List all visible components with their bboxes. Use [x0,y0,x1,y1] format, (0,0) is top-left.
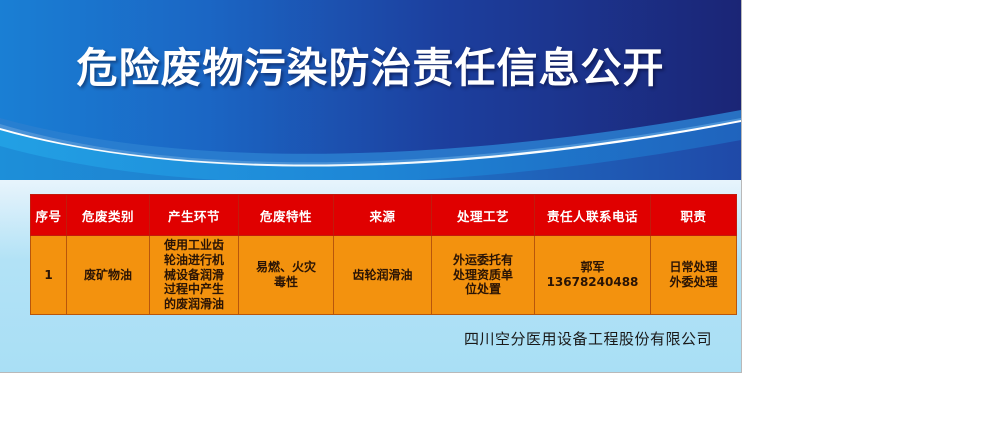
cell-process-line: 位处置 [435,282,531,297]
cell-hazard: 易燃、火灾 毒性 [239,236,334,315]
page-title: 危险废物污染防治责任信息公开 [0,48,741,89]
table-header-row: 序号 危废类别 产生环节 危废特性 来源 处理工艺 责任人联系电话 职责 [31,195,737,236]
cell-stage-line: 使用工业齿 [153,238,235,253]
information-poster: 危险废物污染防治责任信息公开 序号 危废类别 产生环节 危废特性 来源 处理工艺… [0,0,742,373]
cell-category: 废矿物油 [67,236,150,315]
cell-stage-line: 械设备润滑 [153,268,235,283]
cell-stage-line: 轮油进行机 [153,253,235,268]
column-header-source: 来源 [334,195,432,236]
cell-hazard-line: 易燃、火灾 [242,260,330,275]
cell-process: 外运委托有 处理资质单 位处置 [432,236,535,315]
cell-contact-name: 郭军 [538,260,647,275]
cell-duty-line: 外委处理 [654,275,733,290]
cell-contact-phone: 13678240488 [538,275,647,290]
cell-process-line: 外运委托有 [435,253,531,268]
table-row: 1 废矿物油 使用工业齿 轮油进行机 械设备润滑 过程中产生 的废润滑油 易燃、… [31,236,737,315]
column-header-process: 处理工艺 [432,195,535,236]
hazardous-waste-table: 序号 危废类别 产生环节 危废特性 来源 处理工艺 责任人联系电话 职责 1 废… [30,194,737,315]
cell-index: 1 [31,236,67,315]
hazardous-waste-table-wrapper: 序号 危废类别 产生环节 危废特性 来源 处理工艺 责任人联系电话 职责 1 废… [30,194,712,315]
header-banner: 危险废物污染防治责任信息公开 [0,0,741,180]
column-header-stage: 产生环节 [150,195,239,236]
column-header-contact: 责任人联系电话 [535,195,651,236]
cell-contact: 郭军 13678240488 [535,236,651,315]
column-header-hazard: 危废特性 [239,195,334,236]
cell-stage-line: 的废润滑油 [153,297,235,312]
company-name: 四川空分医用设备工程股份有限公司 [0,328,712,349]
cell-stage: 使用工业齿 轮油进行机 械设备润滑 过程中产生 的废润滑油 [150,236,239,315]
cell-stage-line: 过程中产生 [153,282,235,297]
cell-duty-line: 日常处理 [654,260,733,275]
cell-duty: 日常处理 外委处理 [651,236,737,315]
column-header-index: 序号 [31,195,67,236]
cell-source: 齿轮润滑油 [334,236,432,315]
column-header-category: 危废类别 [67,195,150,236]
cell-hazard-line: 毒性 [242,275,330,290]
column-header-duty: 职责 [651,195,737,236]
cell-process-line: 处理资质单 [435,268,531,283]
